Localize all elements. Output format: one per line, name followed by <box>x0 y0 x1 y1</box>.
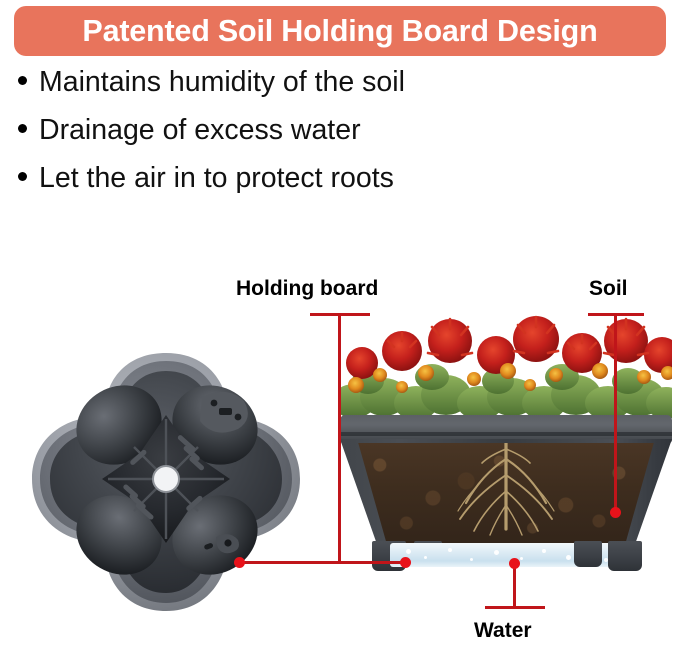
callout-label-holding-board: Holding board <box>236 277 378 301</box>
holding-board-marker-right <box>400 557 411 568</box>
holding-board-marker-left <box>234 557 245 568</box>
water-bubble <box>494 550 499 555</box>
feature-text: Let the air in to protect roots <box>39 164 394 194</box>
water-bubble <box>448 548 452 552</box>
water-marker <box>509 558 520 569</box>
holding-board-leader-stem <box>338 313 341 563</box>
soil-mass <box>340 443 672 543</box>
header-banner: Patented Soil Holding Board Design <box>14 6 666 56</box>
feature-bullet-list: Maintains humidity of the soil Drainage … <box>18 68 578 212</box>
list-item: Let the air in to protect roots <box>18 164 578 212</box>
water-bubble <box>406 549 411 554</box>
bullet-dot-icon <box>18 124 27 133</box>
planter-foot <box>608 541 642 571</box>
soil-holding-board-top-view <box>16 345 316 630</box>
callout-label-water: Water <box>474 619 532 643</box>
water-bubble <box>542 549 546 553</box>
water-leader-stem <box>513 564 516 608</box>
planter-cross-section <box>340 315 672 595</box>
bullet-dot-icon <box>18 172 27 181</box>
water-bubble <box>566 555 571 560</box>
water-reservoir <box>368 541 644 571</box>
clover-board-illustration <box>16 345 316 630</box>
callout-label-soil: Soil <box>589 277 628 301</box>
planter-body <box>340 439 672 543</box>
water-bubble <box>424 556 427 559</box>
flower-bed <box>340 315 672 423</box>
list-item: Drainage of excess water <box>18 116 578 164</box>
water-bubble <box>470 558 473 561</box>
planter-foot <box>574 541 602 567</box>
product-diagram: Holding board Soil Water <box>0 255 679 651</box>
feature-text: Maintains humidity of the soil <box>39 68 405 98</box>
list-item: Maintains humidity of the soil <box>18 68 578 116</box>
flowers-illustration <box>340 315 672 423</box>
soil-marker <box>610 507 621 518</box>
holding-board-leader-cross <box>238 561 410 564</box>
page-title: Patented Soil Holding Board Design <box>82 16 597 47</box>
feature-text: Drainage of excess water <box>39 116 361 146</box>
root-system <box>340 443 672 543</box>
water-bubble <box>520 557 523 560</box>
soil-leader-stem <box>614 313 617 513</box>
bullet-dot-icon <box>18 76 27 85</box>
